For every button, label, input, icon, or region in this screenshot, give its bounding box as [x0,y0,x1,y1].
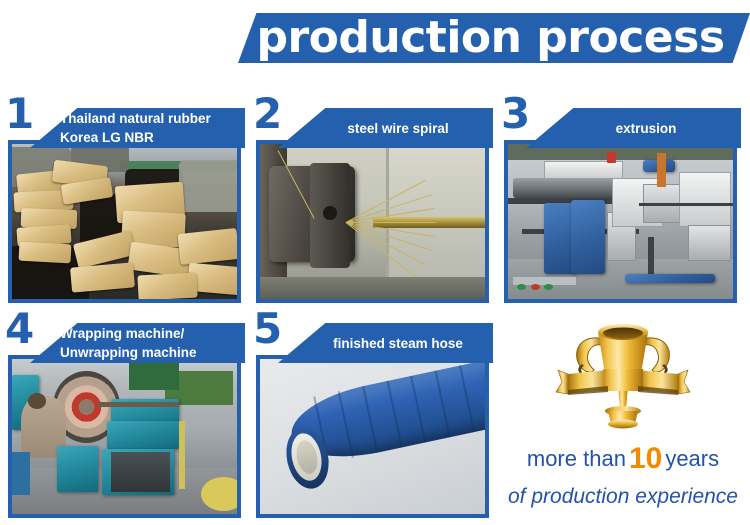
experience-subline: of production experience [496,484,750,510]
step-photo-frame-4 [8,355,241,518]
step-label-5: finished steam hose [308,323,488,363]
experience-suffix: years [665,446,719,471]
step-photo-frame-2 [256,140,489,303]
experience-prefix: more than [527,446,626,471]
step-number-4: 4 [5,308,34,350]
step-photo-1 [12,144,237,299]
step-photo-3 [508,144,733,299]
step-photo-frame-1 [8,140,241,303]
step-number-3: 3 [501,93,530,135]
step-label-1: Thailand natural rubber Korea LG NBR [60,108,240,148]
step-label-1-line-1: Thailand natural rubber [60,109,240,128]
step-label-2: steel wire spiral [308,108,488,148]
step-photo-frame-3 [504,140,737,303]
experience-headline: more than10years [496,446,750,472]
step-photo-2 [260,144,485,299]
production-process-infographic: production process 1 Thailand natural ru… [0,0,750,525]
step-number-2: 2 [253,93,282,135]
experience-panel: more than10years of production experienc… [496,310,750,525]
page-title: production process [238,8,743,70]
step-photo-5 [260,359,485,514]
step-number-1: 1 [5,93,34,135]
step-label-3: extrusion [556,108,736,148]
step-label-1-line-2: Korea LG NBR [60,128,240,147]
step-label-2-line-1: steel wire spiral [308,119,488,138]
step-label-4-line-1: Wrapping machine/ [60,324,240,343]
trophy-icon [548,312,698,437]
step-label-5-line-1: finished steam hose [308,334,488,353]
step-number-5: 5 [253,308,282,350]
experience-number: 10 [626,442,665,475]
step-label-4-line-2: Unwrapping machine [60,343,240,362]
step-photo-frame-5 [256,355,489,518]
step-label-4: Wrapping machine/ Unwrapping machine [60,323,240,363]
step-photo-4 [12,359,237,514]
step-label-3-line-1: extrusion [556,119,736,138]
